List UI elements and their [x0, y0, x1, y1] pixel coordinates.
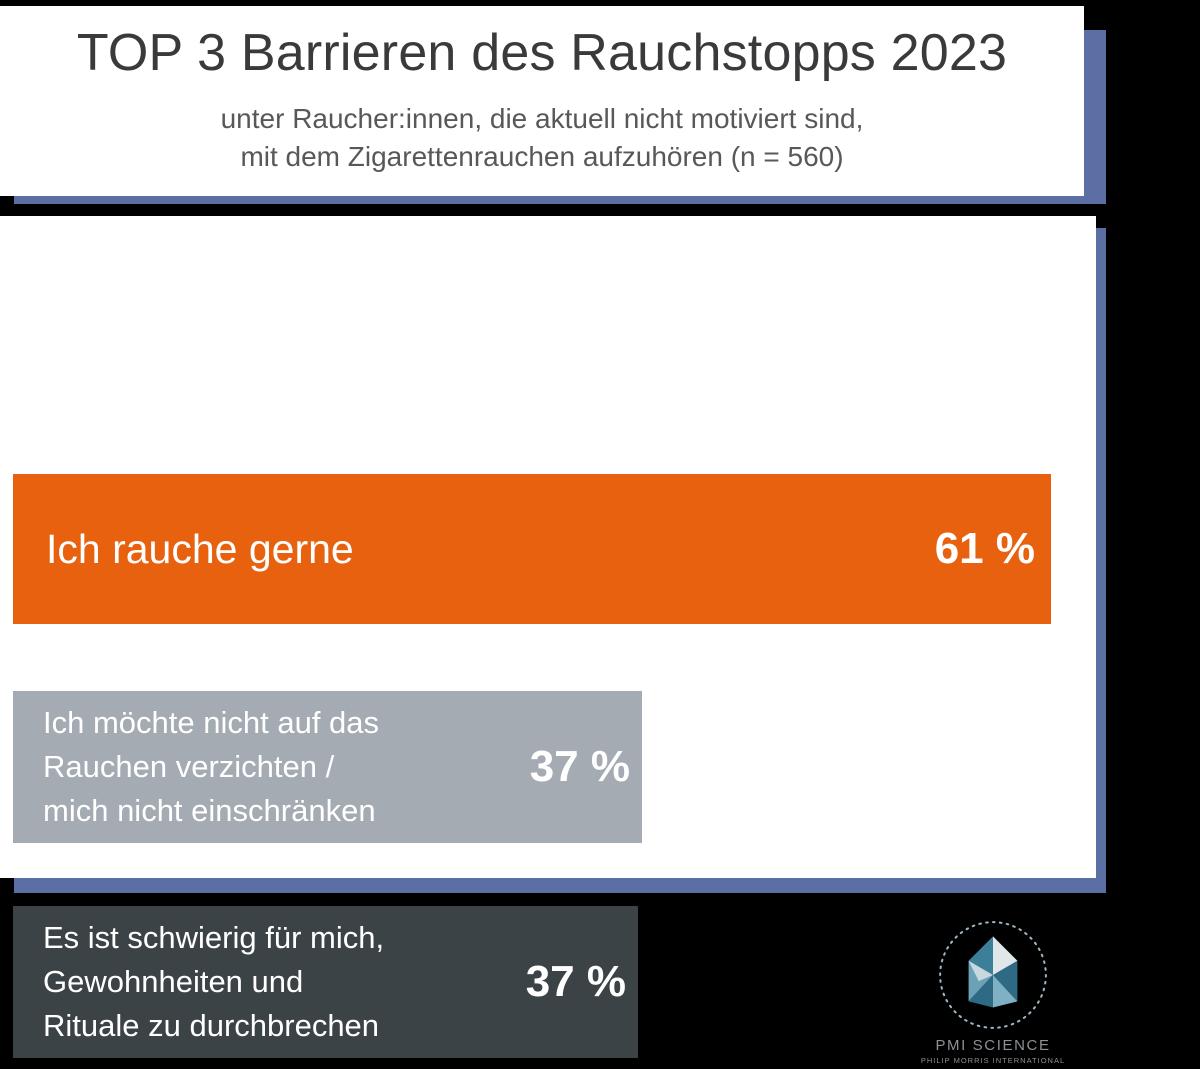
- page-subtitle-line-2: mit dem Zigarettenrauchen aufzuhören (n …: [0, 138, 1084, 176]
- body-panel: Ich rauche gerne 61 % Ich möchte nicht a…: [0, 216, 1096, 878]
- page-subtitle-line-1: unter Raucher:innen, die aktuell nicht m…: [0, 100, 1084, 138]
- page-subtitle: unter Raucher:innen, die aktuell nicht m…: [0, 100, 1084, 176]
- bar-label-3-line-3: Rituale zu durchbrechen: [43, 1004, 384, 1048]
- bar-row-1: Ich rauche gerne 61 %: [13, 474, 1051, 624]
- bar-label-1-line-1: Ich rauche gerne: [46, 525, 354, 573]
- bar-value-2: 37 %: [530, 743, 630, 791]
- bar-label-2-line-3: mich nicht einschränken: [43, 789, 379, 833]
- pmi-science-logo: PMI SCIENCE PHILIP MORRIS INTERNATIONAL: [918, 914, 1068, 1069]
- slide-root: TOP 3 Barrieren des Rauchstopps 2023 unt…: [0, 0, 1200, 900]
- bar-label-3-line-1: Es ist schwierig für mich,: [43, 916, 384, 960]
- bar-label-2-line-1: Ich möchte nicht auf das: [43, 701, 379, 745]
- bar-label-3-line-2: Gewohnheiten und: [43, 960, 384, 1004]
- pmi-science-logo-icon: [932, 914, 1054, 1036]
- logo-name: PMI SCIENCE: [918, 1037, 1068, 1054]
- bar-value-3: 37 %: [526, 958, 626, 1006]
- bar-label-2: Ich möchte nicht auf das Rauchen verzich…: [43, 701, 379, 833]
- bar-label-1: Ich rauche gerne: [46, 525, 354, 573]
- bar-label-3: Es ist schwierig für mich, Gewohnheiten …: [43, 916, 384, 1048]
- title-panel: TOP 3 Barrieren des Rauchstopps 2023 unt…: [0, 6, 1084, 196]
- bar-row-2: Ich möchte nicht auf das Rauchen verzich…: [13, 691, 642, 843]
- bar-value-1: 61 %: [935, 525, 1035, 573]
- page-title: TOP 3 Barrieren des Rauchstopps 2023: [0, 24, 1084, 82]
- bar-row-3: Es ist schwierig für mich, Gewohnheiten …: [13, 906, 638, 1058]
- bar-label-2-line-2: Rauchen verzichten /: [43, 745, 379, 789]
- logo-tagline: PHILIP MORRIS INTERNATIONAL: [918, 1056, 1068, 1065]
